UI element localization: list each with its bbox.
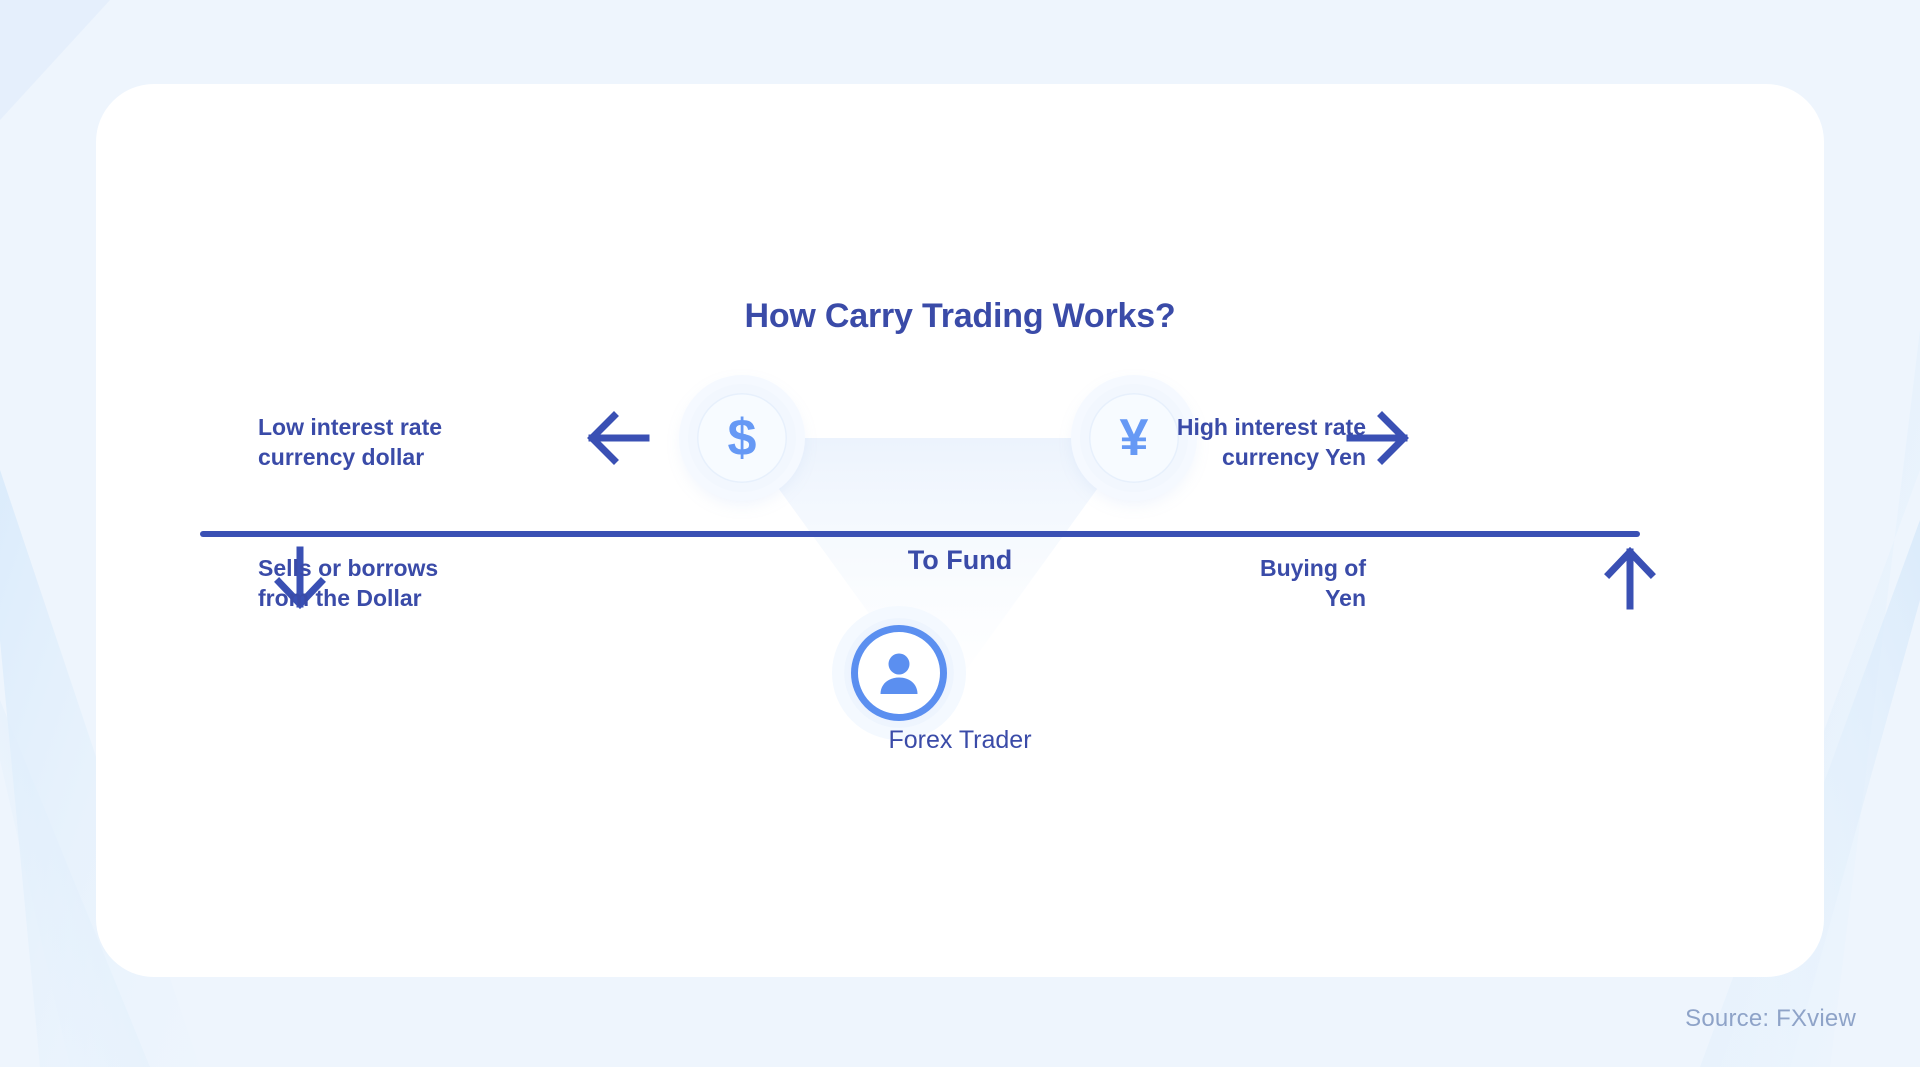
- page-title: How Carry Trading Works?: [96, 297, 1824, 336]
- divider-line: [200, 531, 1640, 537]
- label-high-interest-rate: High interest rate currency Yen: [1116, 412, 1366, 473]
- source-attribution: Source: FXview: [1685, 1005, 1856, 1033]
- label-forex-trader: Forex Trader: [96, 726, 1824, 755]
- label-buying-of-yen: Buying of Yen: [1116, 553, 1366, 614]
- dollar-symbol: $: [697, 393, 787, 483]
- person-glyph-icon: [873, 647, 925, 699]
- infographic-card: How Carry Trading Works? Low interest ra…: [96, 84, 1824, 977]
- user-avatar-icon: [844, 618, 954, 728]
- arrow-left-icon: [584, 410, 650, 471]
- center-label-to-fund: To Fund: [96, 545, 1824, 576]
- dollar-coin-icon: $: [688, 384, 796, 492]
- label-low-interest-rate: Low interest rate currency dollar: [258, 412, 508, 473]
- avatar-ring: [851, 625, 947, 721]
- arrow-up-icon: [1604, 546, 1656, 615]
